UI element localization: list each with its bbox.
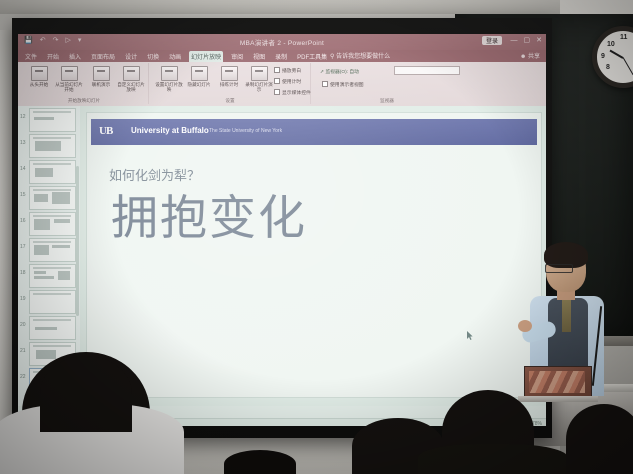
share-button[interactable]: ☻ 共享 <box>520 51 540 60</box>
minimize-icon[interactable]: — <box>511 37 518 44</box>
thumbnail-preview <box>29 212 76 236</box>
audience-head <box>224 450 296 474</box>
clock-number-8: 8 <box>606 64 610 71</box>
ribbon-item-custom-show-label: 自定义幻灯片放映 <box>116 82 146 93</box>
ub-banner-name: University at Buffalo <box>131 126 209 135</box>
thumbnail-item[interactable]: 17 <box>18 236 80 262</box>
ribbon-item-record-show[interactable]: 录制幻灯片演示 <box>244 66 274 93</box>
thumbnail-item[interactable]: 12 <box>18 106 80 132</box>
audience-head <box>40 356 132 432</box>
setup-show-icon <box>161 66 178 81</box>
tell-me-label: 告诉我您想要做什么 <box>336 54 390 60</box>
ribbon-item-from-start[interactable]: 从头开始 <box>24 66 54 87</box>
present-from-current-icon <box>61 66 78 81</box>
mouse-cursor-icon <box>467 331 473 340</box>
ribbon-group-monitors-name: 监视器 <box>312 98 462 104</box>
ribbon-item-setup-show[interactable]: 设置幻灯片放映 <box>154 66 184 93</box>
present-online-icon <box>93 66 110 81</box>
slide-stage: UB University at Buffalo The State Unive… <box>80 106 546 406</box>
slide-title: 拥抱变化 <box>111 191 307 247</box>
thumbnail-preview <box>29 108 76 132</box>
slide-header-band: UB University at Buffalo The State Unive… <box>91 119 537 145</box>
podium-decorated-laptop <box>524 366 592 400</box>
checkbox-play-narrations-label: 播放旁白 <box>282 69 301 74</box>
ribbon: 从头开始 从当前幻灯片开始 联机演示 自定义幻灯片放映 开始放映幻灯片 <box>18 62 546 107</box>
checkbox-play-narrations[interactable]: 播放旁白 <box>274 67 301 74</box>
ribbon-group-start-show: 从头开始 从当前幻灯片开始 联机演示 自定义幻灯片放映 开始放映幻灯片 <box>20 63 149 104</box>
tab-view[interactable]: 视图 <box>251 51 267 62</box>
thumbnail-item[interactable]: 14 <box>18 158 80 184</box>
tab-file[interactable]: 文件 <box>23 51 39 62</box>
monitor-dropdown[interactable] <box>394 66 460 75</box>
ceiling-strip <box>0 0 633 14</box>
thumbnail-number: 18 <box>20 270 26 276</box>
thumbnail-scrollbar[interactable] <box>76 166 79 316</box>
current-slide[interactable]: UB University at Buffalo The State Unive… <box>86 112 542 398</box>
ribbon-item-hide-slide-label: 隐藏幻灯片 <box>184 82 214 87</box>
slide-subtitle: 如何化剑为犁？ <box>109 165 200 184</box>
clock-number-11: 11 <box>620 34 627 41</box>
ribbon-item-present-online-label: 联机演示 <box>86 82 116 87</box>
tab-insert[interactable]: 插入 <box>67 51 83 62</box>
monitor-label-text: 监视器(O): <box>325 70 348 75</box>
window-title: MBA演讲者 2 - PowerPoint <box>18 37 546 47</box>
thumbnail-preview <box>29 316 76 340</box>
ribbon-group-setup: 设置幻灯片放映 隐藏幻灯片 排练计时 录制幻灯片演示 播放旁白 <box>150 63 311 104</box>
ribbon-item-custom-show[interactable]: 自定义幻灯片放映 <box>116 66 146 93</box>
thumbnail-preview <box>29 290 76 314</box>
thumbnail-item[interactable]: 19 <box>18 288 80 314</box>
checkbox-use-timings[interactable]: 使用计时 <box>274 78 301 85</box>
ub-logo-icon: UB <box>99 125 125 139</box>
thumbnail-number: 15 <box>20 192 26 198</box>
thumbnail-preview <box>29 186 76 210</box>
checkbox-icon <box>322 81 328 87</box>
checkbox-presenter-view[interactable]: 使用演示者视图 <box>322 81 364 88</box>
thumbnail-item[interactable]: 13 <box>18 132 80 158</box>
thumbnail-item[interactable]: 16 <box>18 210 80 236</box>
checkbox-use-timings-label: 使用计时 <box>282 80 301 85</box>
clock-number-10: 10 <box>607 41 615 48</box>
thumbnail-item[interactable]: 20 <box>18 314 80 340</box>
checkbox-show-media-controls[interactable]: 显示媒体控件 <box>274 89 311 96</box>
thumbnail-number: 21 <box>20 348 26 354</box>
record-slideshow-icon <box>251 66 268 81</box>
thumbnail-item[interactable]: 15 <box>18 184 80 210</box>
audience-body <box>418 444 568 474</box>
checkbox-icon <box>274 67 280 73</box>
thumbnail-number: 20 <box>20 322 26 328</box>
tab-record[interactable]: 录制 <box>273 51 289 62</box>
ribbon-item-hide-slide[interactable]: 隐藏幻灯片 <box>184 66 214 87</box>
close-icon[interactable]: ✕ <box>536 36 542 44</box>
rehearse-timings-icon <box>221 66 238 81</box>
tab-pdf-tools[interactable]: PDF工具集 <box>295 51 329 62</box>
thumbnail-number: 17 <box>20 244 26 250</box>
podium-surface <box>518 396 598 402</box>
thumbnail-number: 12 <box>20 114 26 120</box>
thumbnail-number: 22 <box>20 374 26 380</box>
ribbon-item-present-online[interactable]: 联机演示 <box>86 66 116 87</box>
tab-page-layout[interactable]: 页面布局 <box>89 51 117 62</box>
tab-design[interactable]: 设计 <box>123 51 139 62</box>
hide-slide-icon <box>191 66 208 81</box>
clock-minute-hand <box>622 57 633 75</box>
ribbon-item-record-show-label: 录制幻灯片演示 <box>244 82 274 93</box>
presenter-tie <box>562 298 571 332</box>
thumbnail-number: 16 <box>20 218 26 224</box>
thumbnail-preview <box>29 134 76 158</box>
ribbon-item-rehearse-label: 排练计时 <box>214 82 244 87</box>
ribbon-group-setup-name: 设置 <box>150 98 310 104</box>
thumbnail-number: 14 <box>20 166 26 172</box>
ribbon-item-setup-show-label: 设置幻灯片放映 <box>154 82 184 93</box>
ribbon-tabs[interactable]: 文件 开始 插入 页面布局 设计 切换 动画 幻灯片放映 审阅 视图 录制 PD… <box>18 50 546 62</box>
checkbox-presenter-view-label: 使用演示者视图 <box>330 83 364 88</box>
share-label: 共享 <box>528 54 540 60</box>
thumbnail-preview <box>29 160 76 184</box>
thumbnail-number: 13 <box>20 140 26 146</box>
ribbon-group-monitors: ➚ 监视器(O): 自动 使用演示者视图 监视器 <box>312 63 462 104</box>
monitor-value-text: 自动 <box>349 70 359 75</box>
classroom-scene: 11 10 9 8 💾 ↶ ↷ ▷ ▾ MBA演讲者 2 - PowerPoin… <box>0 0 633 474</box>
custom-show-icon <box>123 66 140 81</box>
tab-home[interactable]: 开始 <box>45 51 61 62</box>
ribbon-group-start-show-name: 开始放映幻灯片 <box>20 98 148 104</box>
tell-me-search[interactable]: ⚲ 告诉我您想要做什么 <box>330 51 390 60</box>
thumbnail-preview <box>29 264 76 288</box>
ribbon-item-from-start-label: 从头开始 <box>24 82 54 87</box>
monitor-select-label: ➚ 监视器(O): 自动 <box>320 68 359 75</box>
window-titlebar: 💾 ↶ ↷ ▷ ▾ MBA演讲者 2 - PowerPoint 登录 — ▢ ✕ <box>18 34 546 50</box>
tab-transitions[interactable]: 切换 <box>145 51 161 62</box>
presenter-glasses-icon <box>545 264 573 273</box>
clock-number-9: 9 <box>601 53 605 60</box>
ub-banner-subtitle: The State University of New York <box>209 128 282 134</box>
present-from-start-icon <box>31 66 48 81</box>
checkbox-icon <box>274 89 280 95</box>
thumbnail-preview <box>29 238 76 262</box>
window-controls[interactable]: — ▢ ✕ <box>511 36 543 44</box>
tab-slideshow[interactable]: 幻灯片放映 <box>189 51 223 62</box>
audience-head <box>566 404 633 474</box>
thumbnail-item[interactable]: 18 <box>18 262 80 288</box>
maximize-icon[interactable]: ▢ <box>524 36 531 44</box>
thumbnail-number: 19 <box>20 296 26 302</box>
ribbon-item-rehearse[interactable]: 排练计时 <box>214 66 244 87</box>
presenter-hand <box>518 320 532 332</box>
tab-animations[interactable]: 动画 <box>167 51 183 62</box>
checkbox-show-media-controls-label: 显示媒体控件 <box>282 91 311 96</box>
tab-review[interactable]: 审阅 <box>229 51 245 62</box>
ribbon-item-from-current[interactable]: 从当前幻灯片开始 <box>54 66 84 93</box>
ribbon-item-from-current-label: 从当前幻灯片开始 <box>54 82 84 93</box>
checkbox-icon <box>274 78 280 84</box>
signin-button[interactable]: 登录 <box>482 36 502 45</box>
